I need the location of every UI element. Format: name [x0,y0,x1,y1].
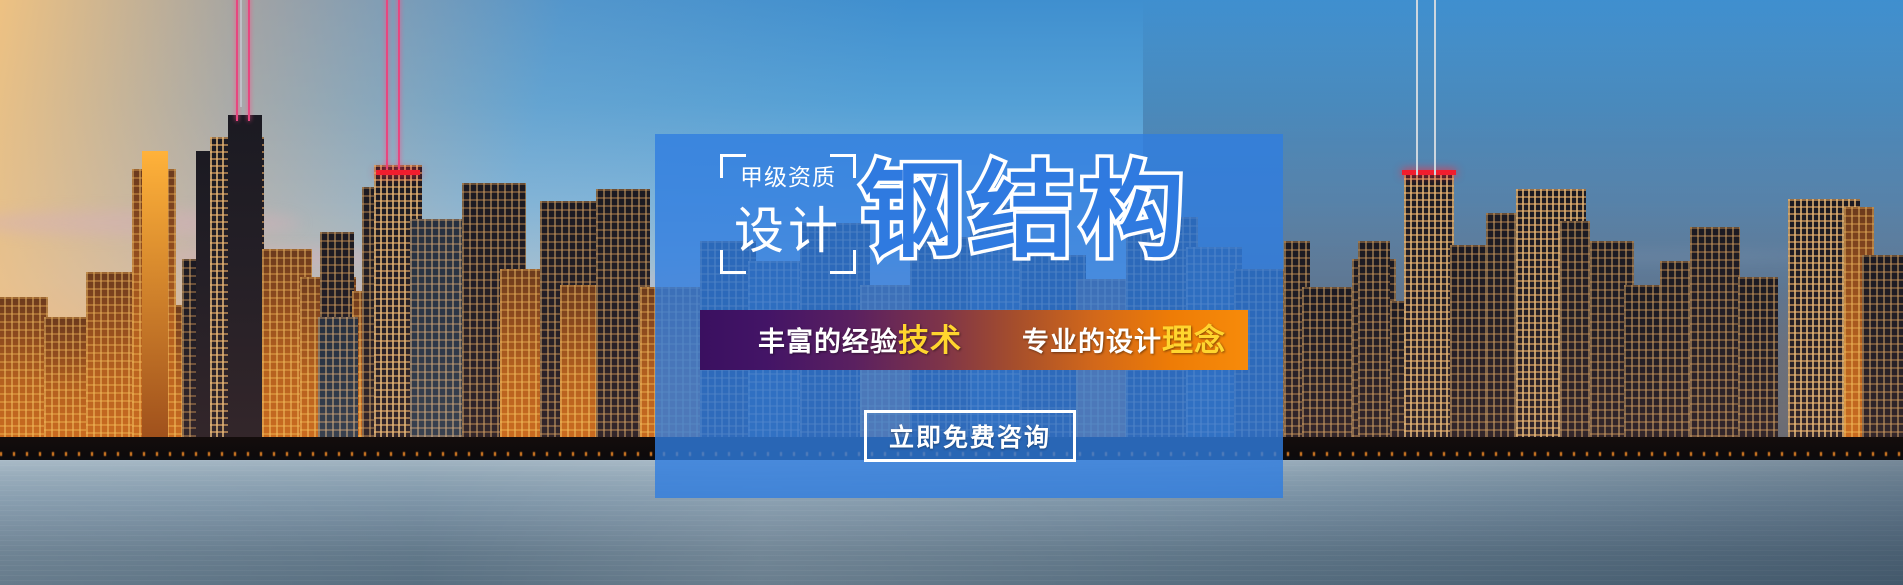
slogan-1-plain: 丰富的经验 [758,329,898,356]
promo-panel: 甲级资质 设计 钢结构 丰富的经验 技术 专业的设计 理念 立即免费咨询 [655,134,1283,498]
slogan-2-highlight: 理念 [1162,325,1226,356]
slogan-group-1: 丰富的经验 技术 [700,325,962,356]
qualification-badge: 甲级资质 设计 [720,154,856,274]
qualification-small-label: 甲级资质 [720,166,856,189]
slogan-strip: 丰富的经验 技术 专业的设计 理念 [700,310,1248,370]
banner-stage: 甲级资质 设计 钢结构 丰富的经验 技术 专业的设计 理念 立即免费咨询 [0,0,1903,585]
free-consultation-button[interactable]: 立即免费咨询 [864,410,1076,462]
headline-text: 钢结构 [860,160,1190,264]
slogan-2-plain: 专业的设计 [1022,329,1162,356]
slogan-group-2: 专业的设计 理念 [962,325,1226,356]
slogan-1-highlight: 技术 [898,325,962,356]
qualification-large-label: 设计 [720,206,856,256]
headline: 钢结构 [860,142,1280,282]
